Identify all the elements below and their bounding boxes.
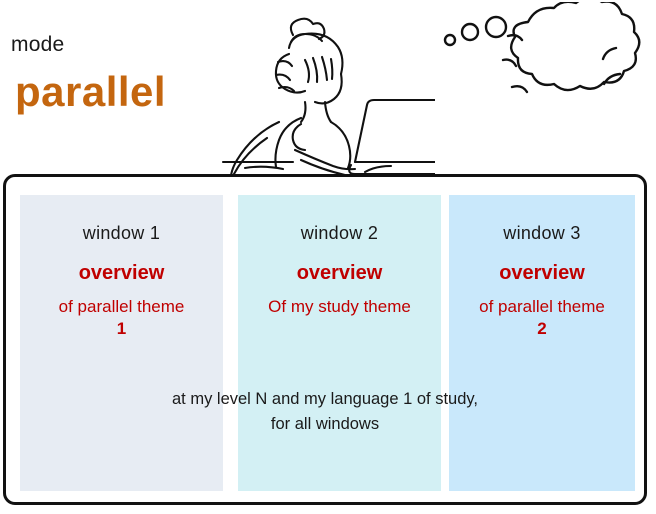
header: mode parallel: [0, 0, 656, 174]
window-3-subtitle-text: of parallel theme: [479, 297, 605, 316]
window-3-heading: overview: [449, 262, 635, 285]
mode-label: mode: [11, 33, 64, 57]
window-panels: window 1 overview of parallel theme 1 wi…: [6, 177, 644, 502]
window-panel-3[interactable]: window 3 overview of parallel theme 2: [449, 195, 635, 491]
window-2-subtitle-text: Of my study theme: [268, 297, 411, 316]
person-studying-at-laptop-icon: [205, 2, 435, 174]
window-panel-1[interactable]: window 1 overview of parallel theme 1: [20, 195, 223, 491]
window-2-title: window 2: [238, 223, 441, 244]
mode-value: parallel: [15, 68, 166, 116]
window-panel-2[interactable]: window 2 overview Of my study theme: [238, 195, 441, 491]
window-1-number: 1: [26, 318, 217, 340]
parallel-mode-frame: window 1 overview of parallel theme 1 wi…: [3, 174, 647, 505]
window-3-subtitle: of parallel theme 2: [449, 296, 635, 340]
window-2-subtitle: Of my study theme: [238, 296, 441, 318]
window-3-number: 2: [455, 318, 629, 340]
window-3-title: window 3: [449, 223, 635, 244]
window-1-title: window 1: [20, 223, 223, 244]
window-1-heading: overview: [20, 262, 223, 285]
window-1-subtitle-text: of parallel theme: [59, 297, 185, 316]
window-1-subtitle: of parallel theme 1: [20, 296, 223, 340]
window-2-heading: overview: [238, 262, 441, 285]
thought-bubble-icon: [440, 2, 656, 142]
